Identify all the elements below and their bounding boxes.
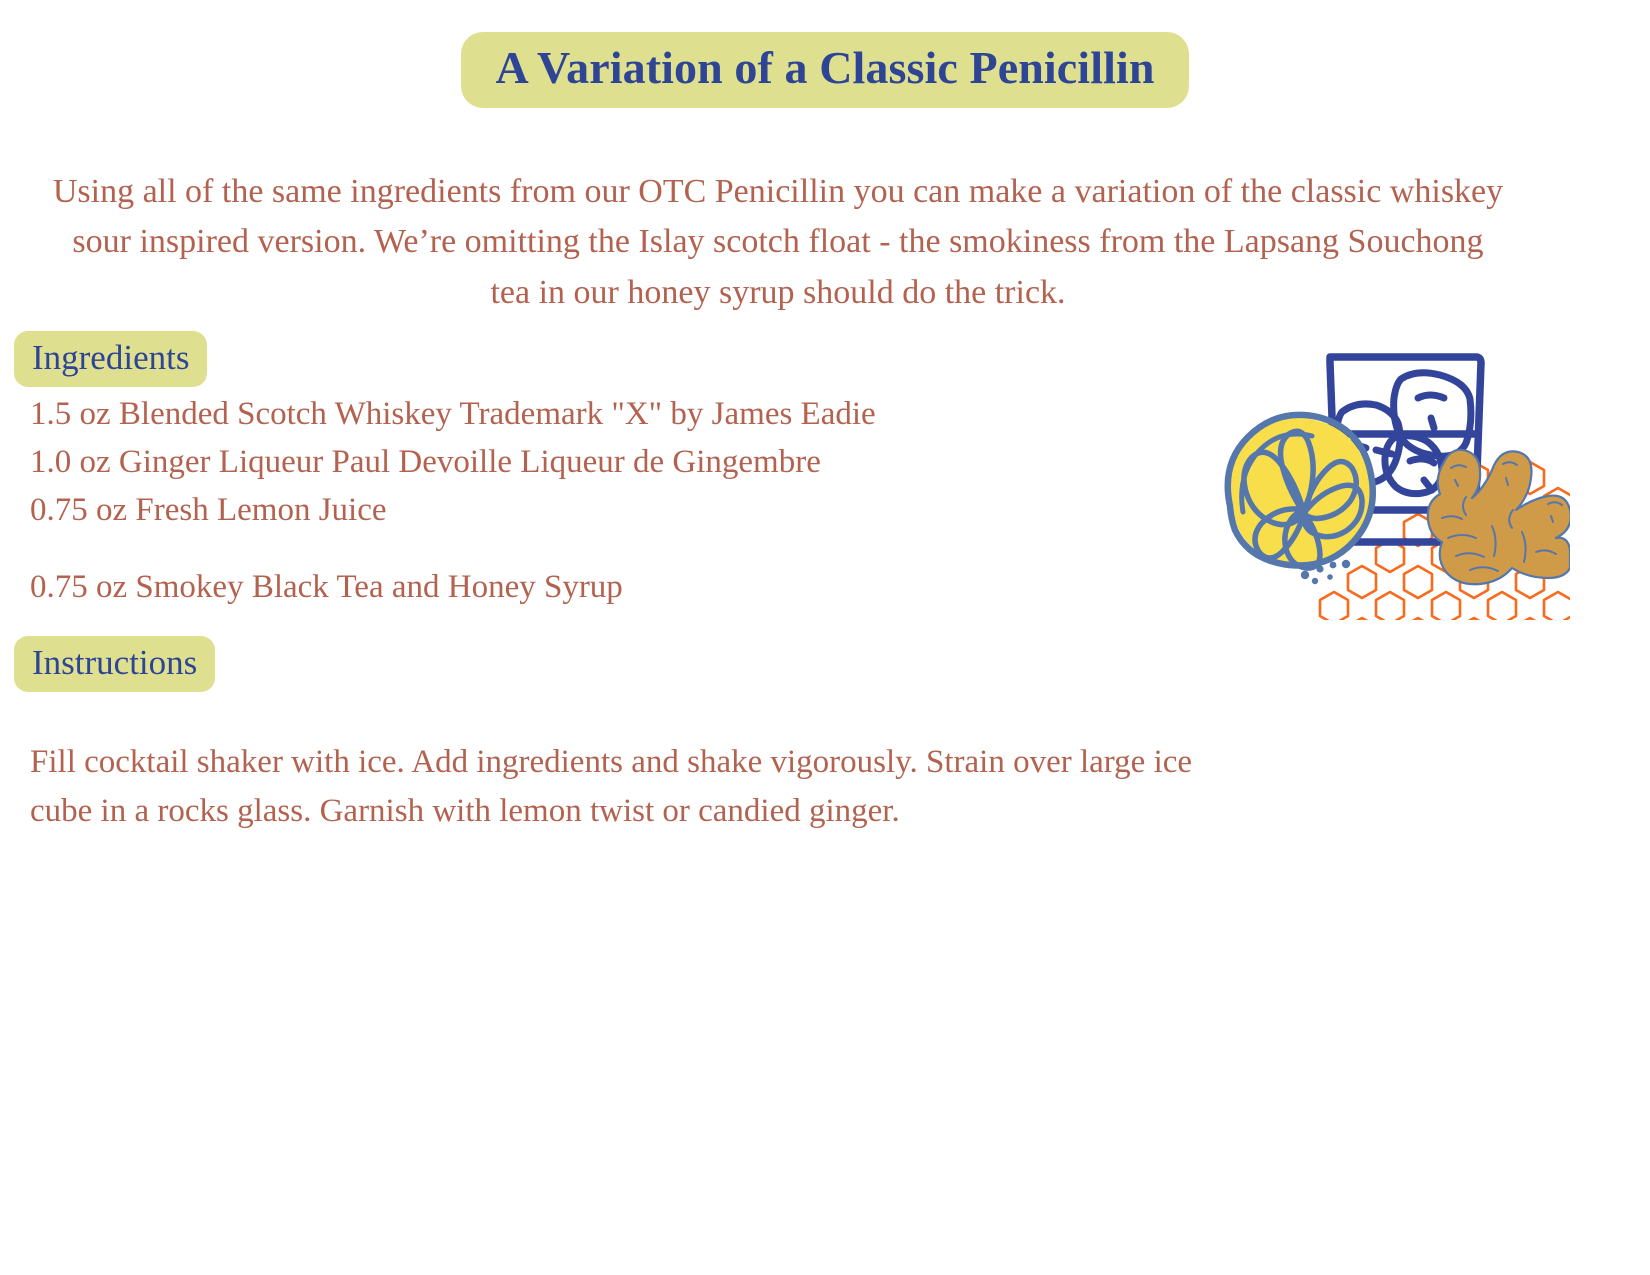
instructions-body: Fill cocktail shaker with ice. Add ingre… bbox=[30, 738, 1220, 835]
page-title: A Variation of a Classic Penicillin bbox=[461, 32, 1188, 108]
list-item: 0.75 oz Fresh Lemon Juice bbox=[30, 486, 1160, 534]
cocktail-ingredients-illustration bbox=[1170, 320, 1570, 620]
ingredients-list: 1.5 oz Blended Scotch Whiskey Trademark … bbox=[30, 390, 1160, 611]
page-title-container: A Variation of a Classic Penicillin bbox=[0, 32, 1650, 108]
list-item: 1.0 oz Ginger Liqueur Paul Devoille Liqu… bbox=[30, 438, 1160, 486]
lemon-half-icon bbox=[1228, 415, 1373, 584]
instructions-heading: Instructions bbox=[14, 636, 215, 692]
intro-paragraph: Using all of the same ingredients from o… bbox=[52, 167, 1504, 318]
ingredients-heading: Ingredients bbox=[14, 331, 207, 387]
ginger-root-icon bbox=[1428, 450, 1570, 584]
list-item: 0.75 oz Smokey Black Tea and Honey Syrup bbox=[30, 563, 1160, 611]
list-item: 1.5 oz Blended Scotch Whiskey Trademark … bbox=[30, 390, 1160, 438]
